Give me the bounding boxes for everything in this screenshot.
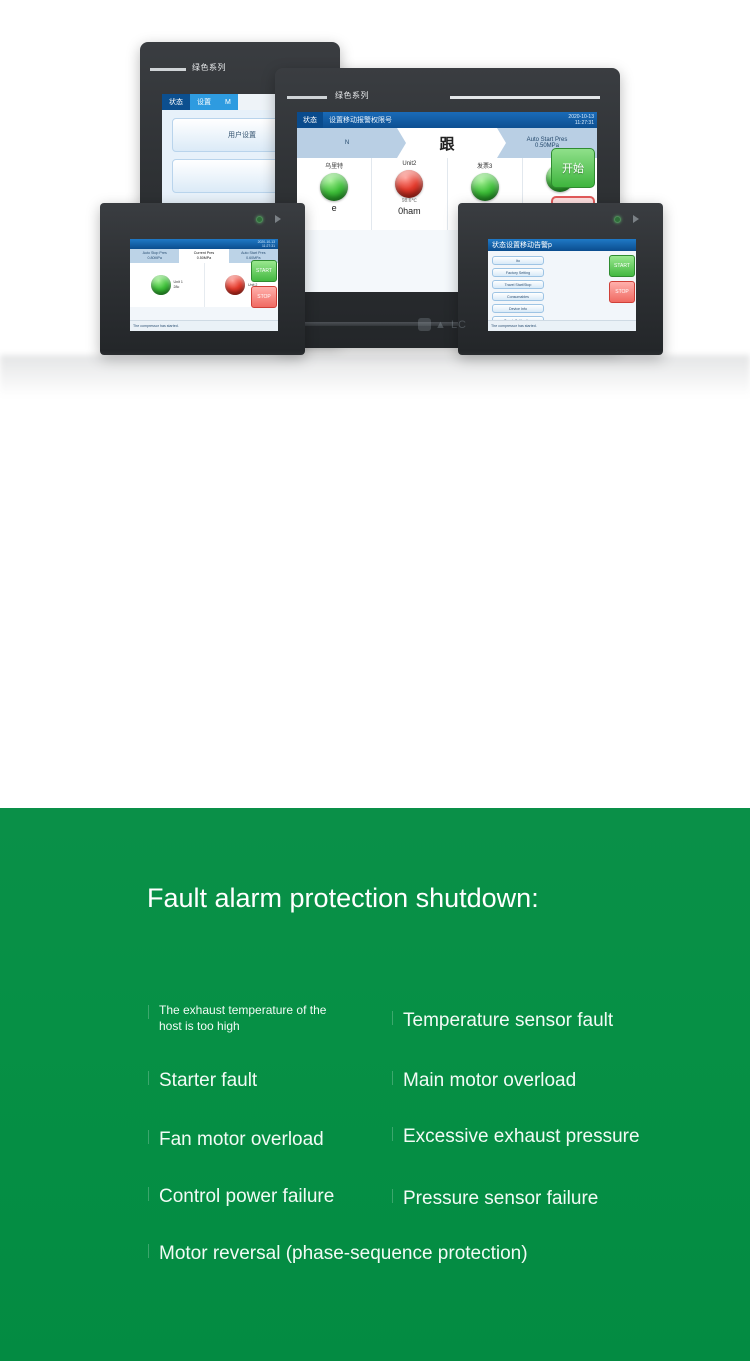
screen-titlebar-main: 状态 设置移动报警权限号 2020-10-13 11:27:31	[297, 112, 597, 128]
screen-body-front-left: Auto Stop Pres 0.80MPa Current Pres 0.50…	[130, 249, 278, 331]
hmi-device-front-right: 状态设置移动告警p Ito Factory Setting Travel Sta…	[458, 203, 663, 355]
stop-button-front-right[interactable]: STOP	[609, 281, 635, 303]
lamp-value: e	[332, 203, 337, 213]
alarm-label: Temperature sensor fault	[403, 1010, 613, 1031]
lamp-value: 28c	[174, 285, 183, 290]
screen-title-main: 设置移动报警权限号	[323, 112, 398, 128]
start-button-main[interactable]: 开始	[551, 148, 595, 188]
chevron-mid: 跟	[397, 128, 497, 158]
alarm-tick-mark	[392, 1071, 393, 1085]
brand-label-main: 绿色系列	[335, 90, 369, 101]
side-buttons-front-right: START STOP	[609, 255, 635, 303]
led-group-right	[614, 215, 639, 223]
watermark-logo-icon	[418, 318, 431, 331]
screen-datetime-main: 2020-10-13 11:27:31	[568, 114, 594, 126]
tab-more-back[interactable]: M	[218, 94, 238, 110]
alarm-label: Fan motor overload	[159, 1129, 324, 1150]
led-group-left	[256, 215, 281, 223]
start-button-front-right[interactable]: START	[609, 255, 635, 277]
indicator-lamp-green	[151, 275, 171, 295]
lamp-caption: Unit2	[402, 161, 416, 167]
chevron-current-pres: Current Pres 0.50MPa	[179, 249, 228, 263]
menu-item[interactable]: Device Info	[492, 304, 544, 313]
alarm-label: Starter fault	[159, 1070, 257, 1091]
play-led-icon	[633, 215, 639, 223]
alarm-item: Motor reversal (phase-sequence protectio…	[159, 1241, 528, 1267]
alarm-item: Control power failure	[159, 1184, 334, 1210]
stop-button-front-left[interactable]: STOP	[251, 286, 277, 308]
tab-status-main[interactable]: 状态	[297, 112, 323, 128]
side-buttons-front-left: START STOP	[251, 260, 277, 308]
alarm-tick-mark	[148, 1071, 149, 1085]
alarm-label: Control power failure	[159, 1186, 334, 1207]
screen-titlebar-front-left: 2020-10-13 11:27:31	[130, 239, 278, 249]
alarm-tick-mark	[148, 1244, 149, 1258]
alarm-item: Main motor overload	[403, 1068, 576, 1094]
status-bar-front-right: The compressor has started.	[488, 320, 636, 331]
lamp-cell: Unit 1 28c	[130, 263, 205, 307]
alarm-item: Fan motor overload	[159, 1127, 324, 1153]
alarm-item: The exhaust temperature of thehost is to…	[159, 1002, 326, 1034]
hmi-screen-front-right: 状态设置移动告警p Ito Factory Setting Travel Sta…	[488, 239, 636, 331]
power-led-icon	[614, 216, 621, 223]
lamp-cell: 乌里特 e	[297, 158, 372, 230]
fault-alarm-section: Fault alarm protection shutdown:	[0, 808, 750, 1361]
alarm-label: The exhaust temperature of thehost is to…	[159, 1003, 326, 1033]
screen-title-front-right: 状态设置移动告警p	[488, 239, 636, 251]
start-button-front-left[interactable]: START	[251, 260, 277, 282]
lamp-text: Unit 1 28c	[174, 280, 183, 290]
hmi-screen-front-left: 2020-10-13 11:27:31 Auto Stop Pres 0.80M…	[130, 239, 278, 331]
product-detail-page: 绿色系列 状态 设置 M 用户设置 绿色系列 状态	[0, 0, 750, 1361]
chevron-auto-stop-pres: Auto Stop Pres 0.80MPa	[130, 249, 179, 263]
menu-item[interactable]: Consumables	[492, 292, 544, 301]
lamp-cell: Unit2 98.6℃ 0ham	[372, 158, 447, 230]
alarm-item: Temperature sensor fault	[403, 1008, 613, 1034]
menu-item[interactable]: Ito	[492, 256, 544, 265]
alarm-item: Pressure sensor failure	[403, 1186, 598, 1212]
screen-time-main: 11:27:31	[568, 120, 594, 126]
lamp-caption: 乌里特	[325, 161, 343, 170]
chevron-value: 0.80MPa	[130, 256, 179, 261]
chevron-value: 0.50MPa	[179, 256, 228, 261]
indicator-lamp-green	[320, 173, 348, 201]
watermark-text: ▲ LC	[435, 319, 467, 331]
chevron-left: N	[297, 128, 397, 158]
hmi-device-front-left: 2020-10-13 11:27:31 Auto Stop Pres 0.80M…	[100, 203, 305, 355]
alarm-tick-mark	[148, 1130, 149, 1144]
brand-watermark: ▲ LC	[418, 318, 467, 331]
indicator-lamp-green	[471, 173, 499, 201]
indicator-lamp-red	[395, 170, 423, 198]
lamp-caption: 发票3	[477, 161, 492, 170]
menu-item[interactable]: Factory Setting	[492, 268, 544, 277]
play-led-icon	[275, 215, 281, 223]
lamp-sub: 98.6℃	[402, 198, 417, 204]
alarm-tick-mark	[148, 1187, 149, 1201]
alarm-label: Pressure sensor failure	[403, 1188, 598, 1209]
bezel-accent-line-main-left	[287, 96, 327, 99]
alarm-tick-mark	[148, 1005, 149, 1019]
alarm-tick-mark	[392, 1189, 393, 1203]
menu-item[interactable]: Travel Start/Stop	[492, 280, 544, 289]
indicator-lamp-red	[225, 275, 245, 295]
screen-time-front-left: 11:27:31	[258, 244, 275, 248]
product-hero-image: 绿色系列 状态 设置 M 用户设置 绿色系列 状态	[0, 0, 750, 440]
power-led-icon	[256, 216, 263, 223]
brand-label-back: 绿色系列	[192, 62, 226, 73]
tab-setting-back[interactable]: 设置	[190, 94, 218, 110]
screen-body-front-right: Ito Factory Setting Travel Start/Stop Co…	[488, 251, 636, 331]
alarm-label: Motor reversal (phase-sequence protectio…	[159, 1243, 528, 1264]
alarm-item: Excessive exhaust pressure	[403, 1124, 640, 1150]
screen-datetime-front-left: 2020-10-13 11:27:31	[258, 240, 275, 248]
settings-menu-grid: Ito Factory Setting Travel Start/Stop Co…	[488, 251, 600, 331]
bezel-accent-line-main-right	[450, 96, 600, 99]
section-title-fault-alarm: Fault alarm protection shutdown:	[147, 883, 539, 914]
alarm-label: Main motor overload	[403, 1070, 576, 1091]
alarm-item: Starter fault	[159, 1068, 257, 1094]
alarm-tick-mark	[392, 1011, 393, 1025]
alarm-tick-mark	[392, 1127, 393, 1141]
lamp-value: 0ham	[398, 206, 421, 216]
floor-reflection	[0, 355, 750, 397]
alarm-label: Excessive exhaust pressure	[403, 1126, 640, 1147]
tab-status-back[interactable]: 状态	[162, 94, 190, 110]
status-bar-front-left: The compressor has started.	[130, 320, 278, 331]
bezel-accent-line-left	[150, 68, 186, 71]
